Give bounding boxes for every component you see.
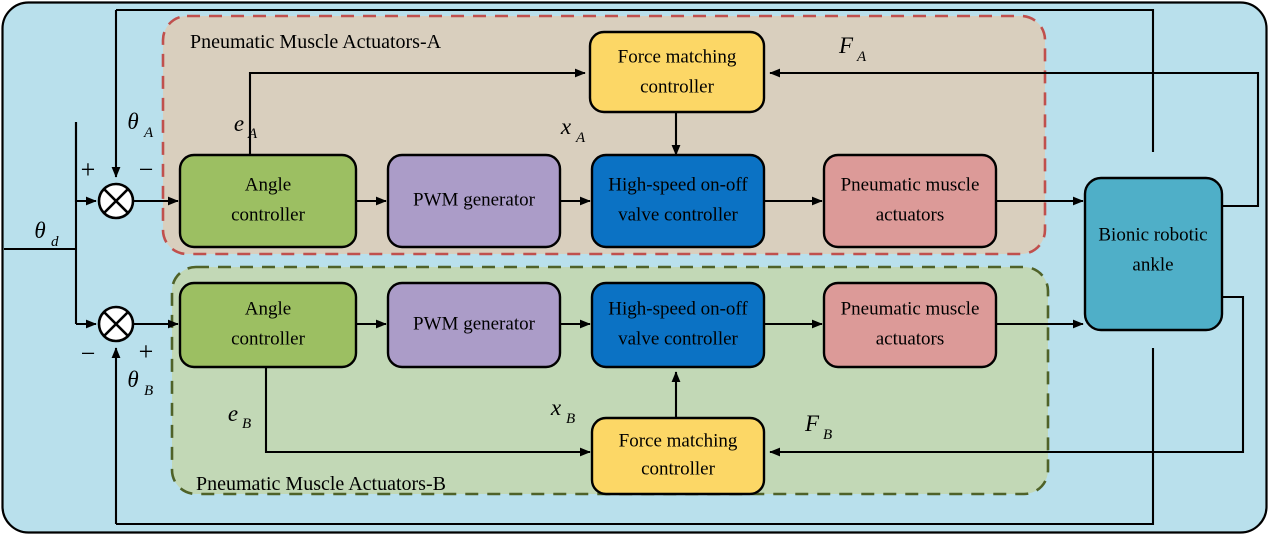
theta-b-sub: B [144,383,153,399]
e-a-base: e [234,111,244,136]
zone-b-title: Pneumatic Muscle Actuators-B [196,473,446,495]
theta-a-sub: A [143,125,154,141]
block-valve-controller-b[interactable]: High-speed on-off valve controller [592,283,764,367]
f-a-base: F [838,33,854,58]
muscle-actuators-a-label-2: actuators [876,204,945,225]
muscle-actuators-b-label-1: Pneumatic muscle [841,298,980,319]
zone-a-title: Pneumatic Muscle Actuators-A [190,31,442,53]
pwm-generator-a-label-1: PWM generator [413,189,536,210]
x-a-sub: A [575,130,586,146]
sum-a-sign-right: − [139,155,154,184]
theta-d-sub: d [51,234,59,250]
muscle-actuators-a-label-1: Pneumatic muscle [841,174,980,195]
x-b-sub: B [566,411,575,427]
bionic-ankle-label-1: Bionic robotic [1098,224,1207,245]
f-b-base: F [804,411,820,436]
sum-b-sign-left: − [81,339,96,368]
e-b-sub: B [242,416,251,432]
angle-controller-b-label-1: Angle [245,298,291,319]
bionic-ankle-label-2: ankle [1132,254,1173,275]
valve-controller-a-shape[interactable] [592,155,764,247]
angle-controller-a-label-2: controller [231,204,306,225]
e-b-base: e [228,401,238,426]
x-a-base: x [560,114,572,139]
block-angle-controller-a[interactable]: Angle controller [180,155,356,247]
f-a-sub: A [856,49,867,65]
force-matching-a-label-2: controller [640,76,715,97]
block-pwm-generator-b[interactable]: PWM generator [388,283,560,367]
sum-b-sign-right: + [139,337,154,366]
e-a-sub: A [247,126,258,142]
valve-controller-b-label-2: valve controller [618,328,738,349]
valve-controller-b-label-1: High-speed on-off [608,298,748,319]
pwm-generator-b-label-1: PWM generator [413,313,536,334]
block-force-matching-controller-b[interactable]: Force matching controller [592,418,764,494]
valve-controller-a-label-2: valve controller [618,204,738,225]
diagram-canvas: Pneumatic Muscle Actuators-A Pneumatic M… [0,0,1269,535]
valve-controller-b-shape[interactable] [592,283,764,367]
block-muscle-actuators-b[interactable]: Pneumatic muscle actuators [824,283,996,367]
block-valve-controller-a[interactable]: High-speed on-off valve controller [592,155,764,247]
muscle-actuators-b-label-2: actuators [876,328,945,349]
force-matching-a-shape[interactable] [590,32,764,112]
force-matching-b-label-2: controller [641,458,716,479]
block-bionic-robotic-ankle[interactable]: Bionic robotic ankle [1085,178,1222,330]
block-force-matching-controller-a[interactable]: Force matching controller [590,32,764,112]
angle-controller-b-label-2: controller [231,328,306,349]
sum-a-sign-left: + [81,155,96,184]
valve-controller-a-label-1: High-speed on-off [608,174,748,195]
angle-controller-a-shape[interactable] [180,155,356,247]
force-matching-b-label-1: Force matching [619,430,738,451]
muscle-actuators-a-shape[interactable] [824,155,996,247]
muscle-actuators-b-shape[interactable] [824,283,996,367]
force-matching-a-label-1: Force matching [618,46,737,67]
block-angle-controller-b[interactable]: Angle controller [180,283,356,367]
theta-b-base: θ [127,367,138,392]
control-block-diagram: Pneumatic Muscle Actuators-A Pneumatic M… [0,0,1269,535]
angle-controller-b-shape[interactable] [180,283,356,367]
f-b-sub: B [823,427,832,443]
theta-d-base: θ [34,218,45,243]
theta-a-base: θ [127,109,138,134]
x-b-base: x [550,395,562,420]
block-pwm-generator-a[interactable]: PWM generator [388,155,560,247]
block-muscle-actuators-a[interactable]: Pneumatic muscle actuators [824,155,996,247]
angle-controller-a-label-1: Angle [245,174,291,195]
